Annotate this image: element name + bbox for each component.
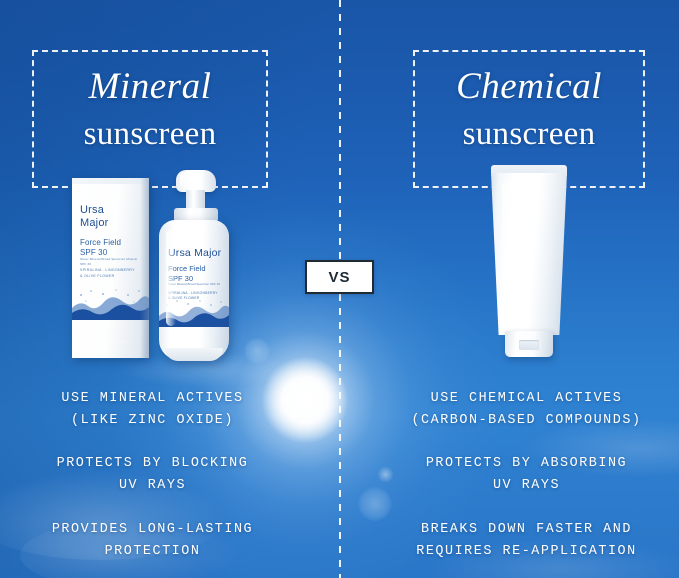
product-carton: UrsaMajor Force FieldSPF 30 Sheer Minera… bbox=[72, 178, 149, 358]
vs-badge-label: VS bbox=[328, 269, 350, 286]
carton-wave-graphic bbox=[72, 282, 149, 358]
bottle-brand: Ursa Major bbox=[168, 248, 223, 260]
mineral-product-group: UrsaMajor Force FieldSPF 30 Sheer Minera… bbox=[60, 170, 255, 360]
comparison-infographic: Mineral sunscreen Chemical sunscreen Urs… bbox=[0, 0, 679, 578]
carton-top-flap bbox=[72, 178, 149, 184]
left-heading-box bbox=[32, 50, 268, 188]
tube-cap bbox=[505, 331, 553, 357]
bottle-product-name: Force FieldSPF 30 bbox=[168, 264, 223, 284]
carton-brand: UrsaMajor bbox=[80, 204, 141, 231]
pump-head bbox=[176, 170, 216, 192]
bottle-footer-mark: URSA MAJOR bbox=[159, 340, 229, 344]
carton-product-name: Force FieldSPF 30 bbox=[80, 238, 141, 258]
bottle-base bbox=[165, 348, 223, 361]
vs-badge: VS bbox=[305, 260, 374, 294]
tube-highlight bbox=[502, 183, 514, 323]
chemical-product-tube bbox=[484, 165, 574, 357]
wave-svg bbox=[72, 286, 149, 320]
bottle-highlight bbox=[166, 230, 176, 326]
carton-fine-print: Sheer Mineral Broad Spectrum Mineral SPF… bbox=[80, 257, 141, 266]
product-pump-bottle: Ursa Major Force FieldSPF 30 Sheer Miner… bbox=[152, 170, 234, 360]
bottle-fine-print: Sheer Mineral Broad Spectrum SPF 30 bbox=[168, 282, 223, 287]
carton-side-shadow bbox=[140, 178, 149, 358]
carton-ingredients: SPIRULINA . LINGONBERRY& OLIVE FLOWER bbox=[80, 268, 141, 280]
pump-neck bbox=[186, 190, 205, 210]
carton-footer-mark: URSA MAJOR bbox=[72, 340, 149, 344]
